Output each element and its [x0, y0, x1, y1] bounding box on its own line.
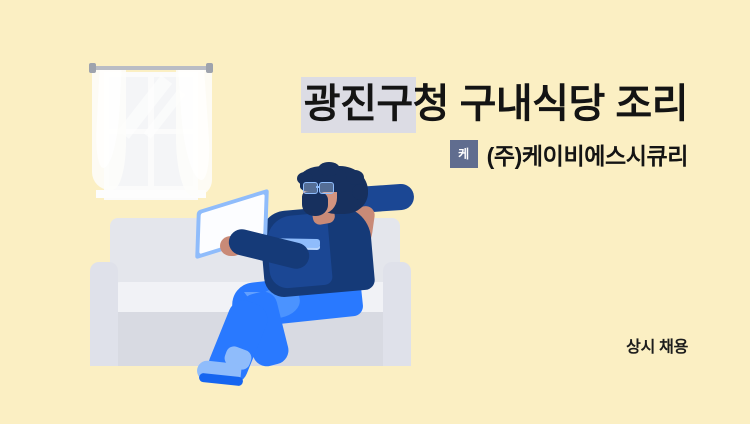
company-name[interactable]: (주)케이비에스시큐리 [487, 137, 688, 171]
title-highlighted-segment: 광진구 [304, 80, 413, 130]
page-title: 광진구청 구내식당 조리 [0, 71, 688, 129]
company-logo-badge: 케 [450, 140, 478, 168]
company-row[interactable]: 케 (주)케이비에스시큐리 [0, 137, 688, 171]
person-hair-tuft-icon [352, 184, 368, 200]
illustration-scene [0, 0, 750, 424]
glasses-icon [319, 182, 334, 194]
glasses-bridge-icon [316, 186, 320, 188]
hiring-type-label: 상시 채용 [0, 333, 688, 357]
glasses-icon [303, 182, 318, 194]
person-beard-icon [302, 192, 328, 216]
title-rest-segment: 청 구내식당 조리 [413, 82, 688, 126]
person-hair-tuft-icon [346, 170, 364, 185]
curtain-rod-icon [92, 66, 210, 70]
job-posting-banner: 광진구청 구내식당 조리 케 (주)케이비에스시큐리 상시 채용 [0, 0, 750, 424]
